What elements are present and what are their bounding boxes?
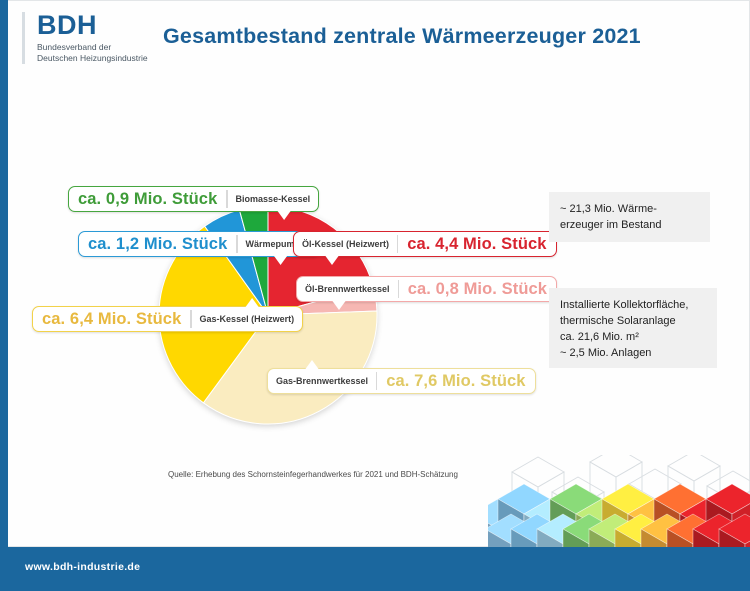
- callout-oel-kessel: Öl-Kessel (Heizwert) ca. 4,4 Mio. Stück: [293, 231, 557, 257]
- info-box-solar-line4: ~ 2,5 Mio. Anlagen: [560, 345, 706, 361]
- callout-biomasse-label: Biomasse-Kessel: [228, 187, 319, 211]
- decorative-cubes-graphic: [488, 455, 750, 547]
- info-box-bestand: ~ 21,3 Mio. Wärme- erzeuger im Bestand: [549, 192, 710, 242]
- footer-bar: www.bdh-industrie.de: [0, 547, 750, 591]
- callout-biomasse: ca. 0,9 Mio. Stück Biomasse-Kessel: [68, 186, 319, 212]
- info-box-solar-line3: ca. 21,6 Mio. m²: [560, 329, 706, 345]
- callout-gas-brennwert: Gas-Brennwertkessel ca. 7,6 Mio. Stück: [267, 368, 536, 394]
- info-box-solar: Installierte Kollektorfläche, thermische…: [549, 288, 717, 368]
- source-note: Quelle: Erhebung des Schornsteinfegerhan…: [168, 470, 458, 479]
- info-box-bestand-line2: erzeuger im Bestand: [560, 217, 699, 233]
- callout-gas-kessel: ca. 6,4 Mio. Stück Gas-Kessel (Heizwert): [32, 306, 303, 332]
- info-box-solar-line2: thermische Solaranlage: [560, 313, 706, 329]
- callout-oel-brennwert-value: ca. 0,8 Mio. Stück: [399, 277, 556, 301]
- callout-waermepumpen-value: ca. 1,2 Mio. Stück: [79, 232, 236, 256]
- callout-gas-kessel-label: Gas-Kessel (Heizwert): [192, 307, 303, 331]
- callout-tail: [331, 300, 347, 310]
- info-box-bestand-line1: ~ 21,3 Mio. Wärme-: [560, 201, 699, 217]
- infographic-page: BDH Bundesverband der Deutschen Heizungs…: [0, 0, 750, 591]
- info-box-solar-line1: Installierte Kollektorfläche,: [560, 297, 706, 313]
- left-accent-rail: [0, 0, 8, 547]
- callout-oel-kessel-label: Öl-Kessel (Heizwert): [294, 232, 397, 256]
- callout-gas-brennwert-label: Gas-Brennwertkessel: [268, 369, 376, 393]
- callout-gas-kessel-value: ca. 6,4 Mio. Stück: [33, 307, 190, 331]
- callout-tail: [244, 298, 260, 308]
- callout-oel-brennwert-label: Öl-Brennwertkessel: [297, 277, 398, 301]
- callout-oel-kessel-value: ca. 4,4 Mio. Stück: [398, 232, 555, 256]
- callout-gas-brennwert-value: ca. 7,6 Mio. Stück: [377, 369, 534, 393]
- logo-subtitle-line1: Bundesverband der: [37, 42, 172, 53]
- callout-tail: [273, 255, 289, 265]
- callout-waermepumpen: ca. 1,2 Mio. Stück Wärmepumpen: [78, 231, 320, 257]
- callout-oel-brennwert: Öl-Brennwertkessel ca. 0,8 Mio. Stück: [296, 276, 557, 302]
- logo-subtitle-line2: Deutschen Heizungsindustrie: [37, 53, 172, 64]
- callout-tail: [324, 255, 340, 265]
- callout-tail: [304, 360, 320, 370]
- callout-biomasse-value: ca. 0,9 Mio. Stück: [69, 187, 226, 211]
- page-title: Gesamtbestand zentrale Wärmeerzeuger 202…: [163, 24, 641, 49]
- logo-acronym: BDH: [37, 12, 172, 39]
- bdh-logo: BDH Bundesverband der Deutschen Heizungs…: [22, 12, 172, 64]
- callout-tail: [276, 210, 292, 220]
- footer-website-url: www.bdh-industrie.de: [25, 561, 140, 573]
- logo-subtitle: Bundesverband der Deutschen Heizungsindu…: [37, 42, 172, 64]
